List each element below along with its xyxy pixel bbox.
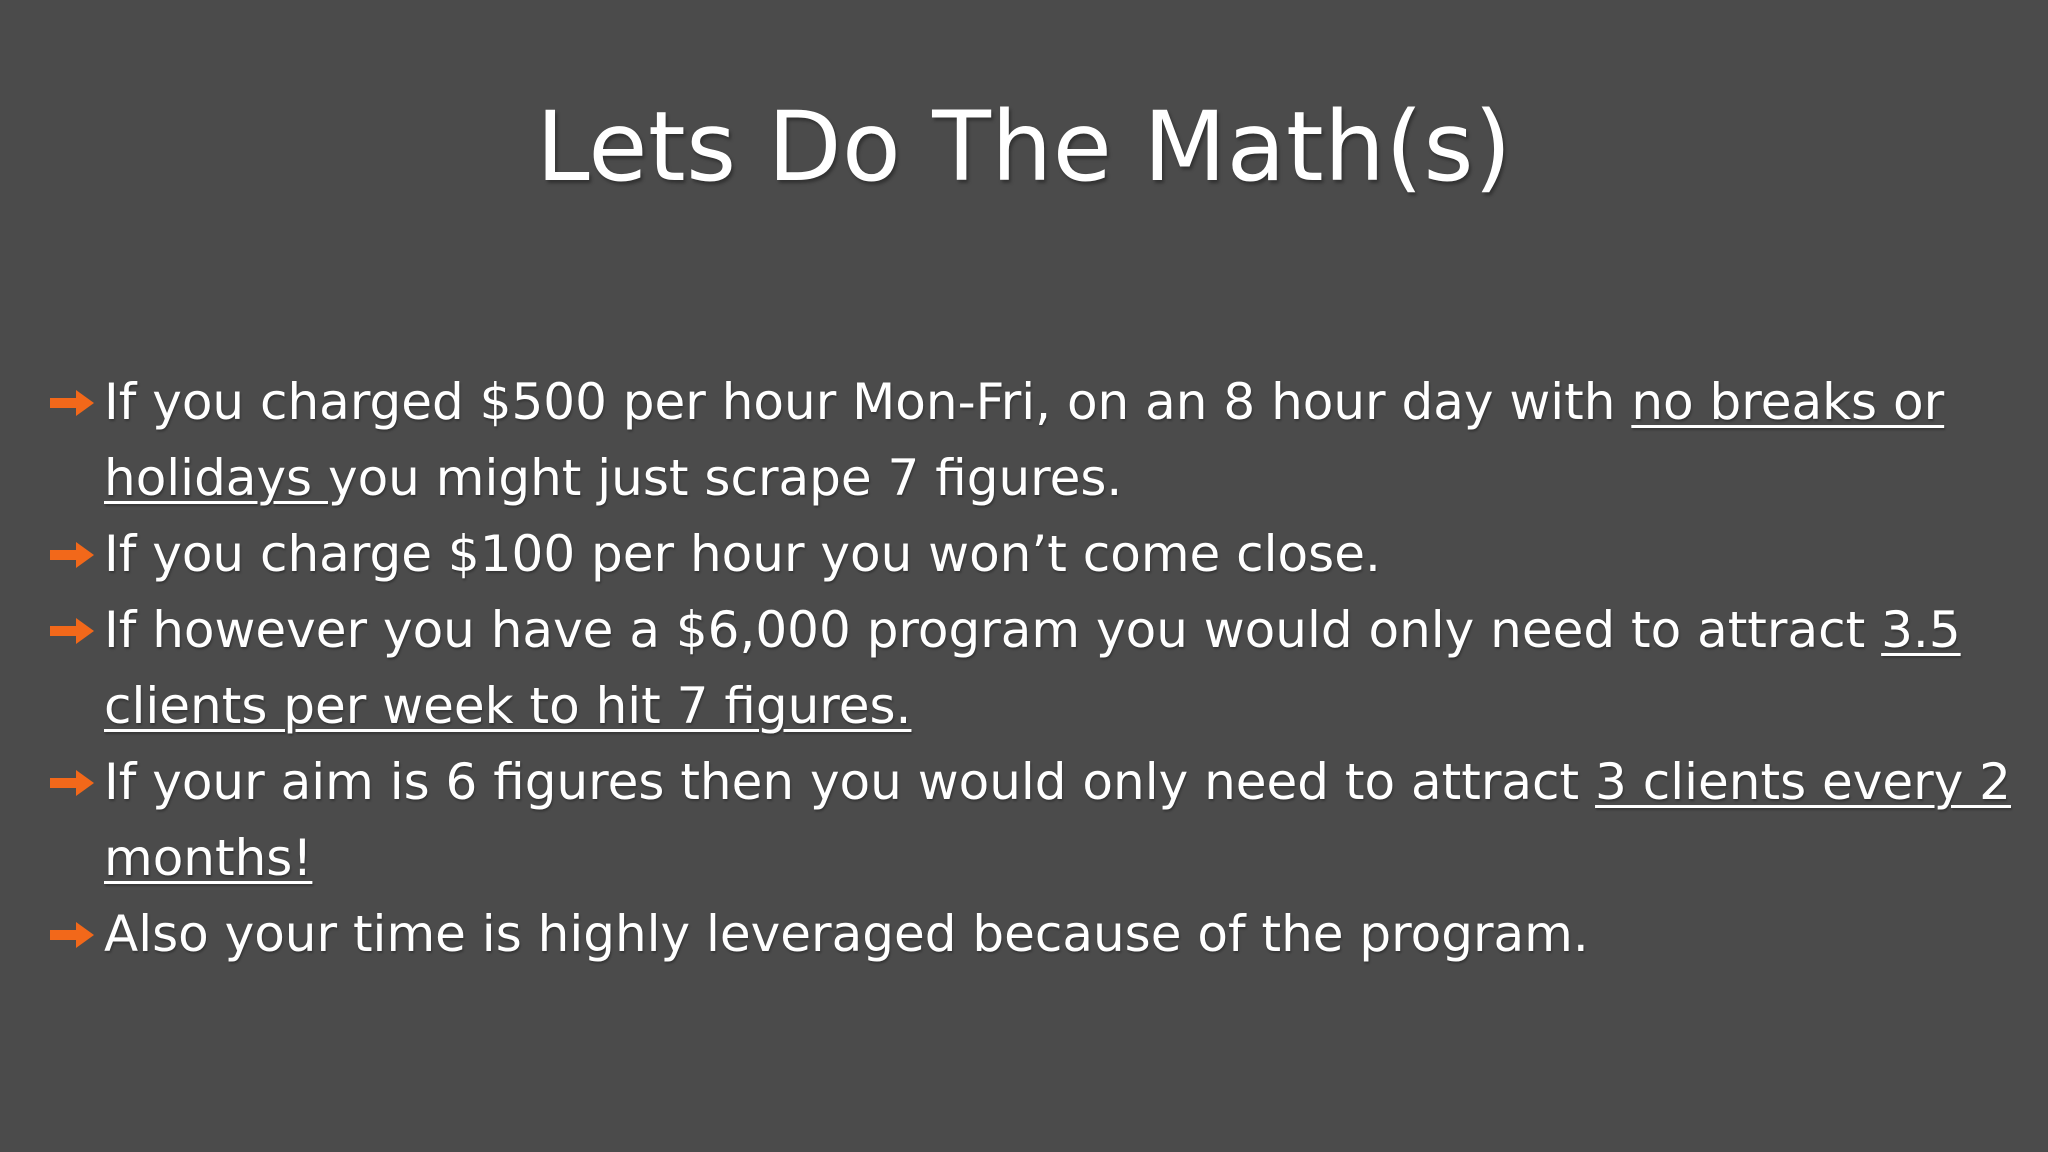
right-arrow-icon [46,896,96,972]
bullet-3-segment-1: If however you have a $6,000 program you… [104,601,1881,659]
list-item-text: If however you have a $6,000 program you… [104,592,2048,744]
right-arrow-icon [46,592,96,668]
list-item-text: If your aim is 6 figures then you would … [104,744,2048,896]
bullet-2-segment-1: If you charge $100 per hour you won’t co… [104,525,1381,583]
list-item-text: Also your time is highly leveraged becau… [104,896,2048,972]
list-item[interactable]: If you charge $100 per hour you won’t co… [46,516,2048,592]
bullet-5-segment-1: Also your time is highly leveraged becau… [104,905,1589,963]
right-arrow-icon [46,364,96,440]
bullet-1-segment-1: If you charged $500 per hour Mon-Fri, on… [104,373,1631,431]
list-item[interactable]: Also your time is highly leveraged becau… [46,896,2048,972]
list-item-text: If you charged $500 per hour Mon-Fri, on… [104,364,2048,516]
list-item-text: If you charge $100 per hour you won’t co… [104,516,2048,592]
bullet-list: If you charged $500 per hour Mon-Fri, on… [46,364,2048,972]
list-item[interactable]: If your aim is 6 figures then you would … [46,744,2048,896]
bullet-1-segment-3: you might just scrape 7 figures. [328,449,1122,507]
page-title: Lets Do The Math(s) [0,92,2048,202]
bullet-4-segment-1: If your aim is 6 figures then you would … [104,753,1595,811]
right-arrow-icon [46,516,96,592]
right-arrow-icon [46,744,96,820]
list-item[interactable]: If however you have a $6,000 program you… [46,592,2048,744]
list-item[interactable]: If you charged $500 per hour Mon-Fri, on… [46,364,2048,516]
presentation-slide: Lets Do The Math(s) If you charged $500 … [0,0,2048,1152]
